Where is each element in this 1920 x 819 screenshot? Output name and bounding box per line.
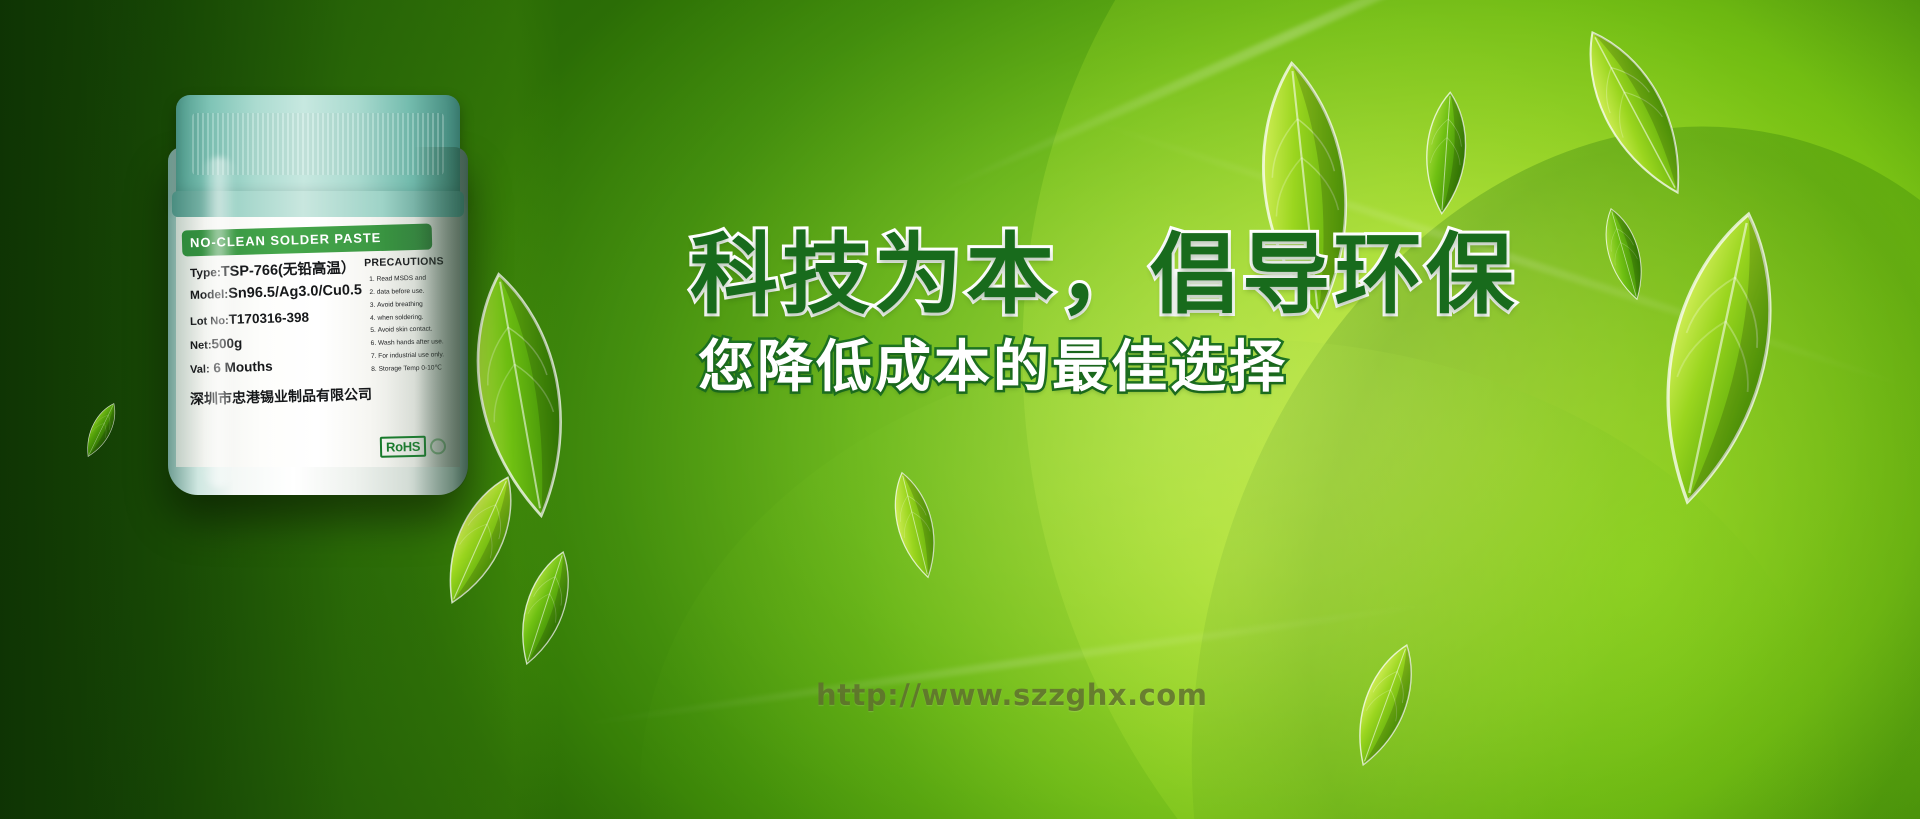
promotional-banner: NO-CLEAN SOLDER PASTE Type:TSP-766(无铅高温）… (0, 0, 1920, 819)
website-url[interactable]: http://www.szzghx.com (816, 678, 1207, 712)
headline-text: 科技为本，倡导环保 (690, 228, 1870, 321)
jar-edge-shadow (414, 147, 468, 495)
label-spec-lot-value: T170316-398 (228, 310, 309, 327)
product-jar: NO-CLEAN SOLDER PASTE Type:TSP-766(无铅高温）… (168, 95, 468, 495)
jar-highlight (202, 157, 236, 487)
headline-copy-block: 科技为本，倡导环保 您降低成本的最佳选择 (690, 228, 1870, 401)
subheadline-text: 您降低成本的最佳选择 (698, 335, 1870, 401)
label-spec-type-value: TSP-766(无铅高温） (221, 260, 356, 280)
label-spec-model-value: Sn96.5/Ag3.0/Cu0.5 (228, 282, 362, 302)
